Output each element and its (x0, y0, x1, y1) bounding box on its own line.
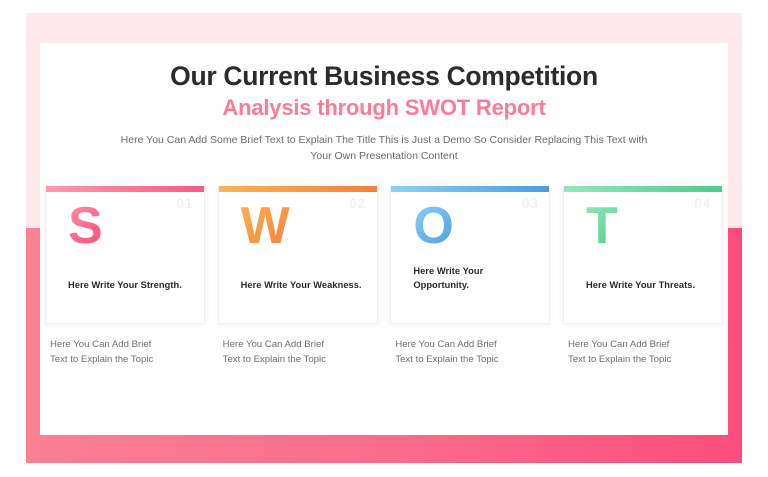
card-heading-strength: Here Write Your Strength. (68, 279, 194, 293)
swot-slide: Our Current Business Competition Analysi… (0, 0, 768, 477)
card-body-strength: Here You Can Add Brief Text to Explain t… (45, 338, 163, 368)
page-title: Our Current Business Competition (40, 61, 728, 92)
card-letter-opportunity: O (413, 200, 453, 252)
content-sheet: Our Current Business Competition Analysi… (40, 43, 728, 435)
swot-card-weakness[interactable]: 02 W Here Write Your Weakness. (218, 186, 378, 324)
swot-column-strength: 01 S Here Write Your Strength. Here You … (45, 186, 205, 368)
slide-header: Our Current Business Competition Analysi… (40, 43, 728, 164)
card-number-weakness: 02 (349, 195, 366, 211)
card-heading-threats: Here Write Your Threats. (586, 279, 712, 293)
accent-bar-opportunity (391, 186, 549, 192)
swot-card-threats[interactable]: 04 T Here Write Your Threats. (563, 186, 723, 324)
card-letter-threats: T (586, 200, 618, 252)
swot-card-opportunity[interactable]: 03 O Here Write Your Opportunity. (390, 186, 550, 324)
swot-column-opportunity: 03 O Here Write Your Opportunity. Here Y… (390, 186, 550, 368)
intro-paragraph: Here You Can Add Some Brief Text to Expl… (119, 132, 649, 165)
swot-card-strength[interactable]: 01 S Here Write Your Strength. (45, 186, 205, 324)
swot-column-weakness: 02 W Here Write Your Weakness. Here You … (218, 186, 378, 368)
accent-bar-threats (564, 186, 722, 192)
card-number-threats: 04 (694, 195, 711, 211)
card-number-opportunity: 03 (522, 195, 539, 211)
swot-column-threats: 04 T Here Write Your Threats. Here You C… (563, 186, 723, 368)
card-heading-opportunity: Here Write Your Opportunity. (413, 265, 539, 293)
card-letter-weakness: W (241, 200, 290, 252)
accent-bar-strength (46, 186, 204, 192)
card-body-weakness: Here You Can Add Brief Text to Explain t… (218, 338, 336, 368)
page-subtitle: Analysis through SWOT Report (40, 94, 728, 123)
accent-bar-weakness (219, 186, 377, 192)
card-number-strength: 01 (176, 195, 193, 211)
card-body-opportunity: Here You Can Add Brief Text to Explain t… (390, 338, 508, 368)
card-letter-strength: S (68, 200, 103, 252)
card-heading-weakness: Here Write Your Weakness. (241, 279, 367, 293)
card-body-threats: Here You Can Add Brief Text to Explain t… (563, 338, 681, 368)
swot-card-row: 01 S Here Write Your Strength. Here You … (40, 186, 728, 368)
